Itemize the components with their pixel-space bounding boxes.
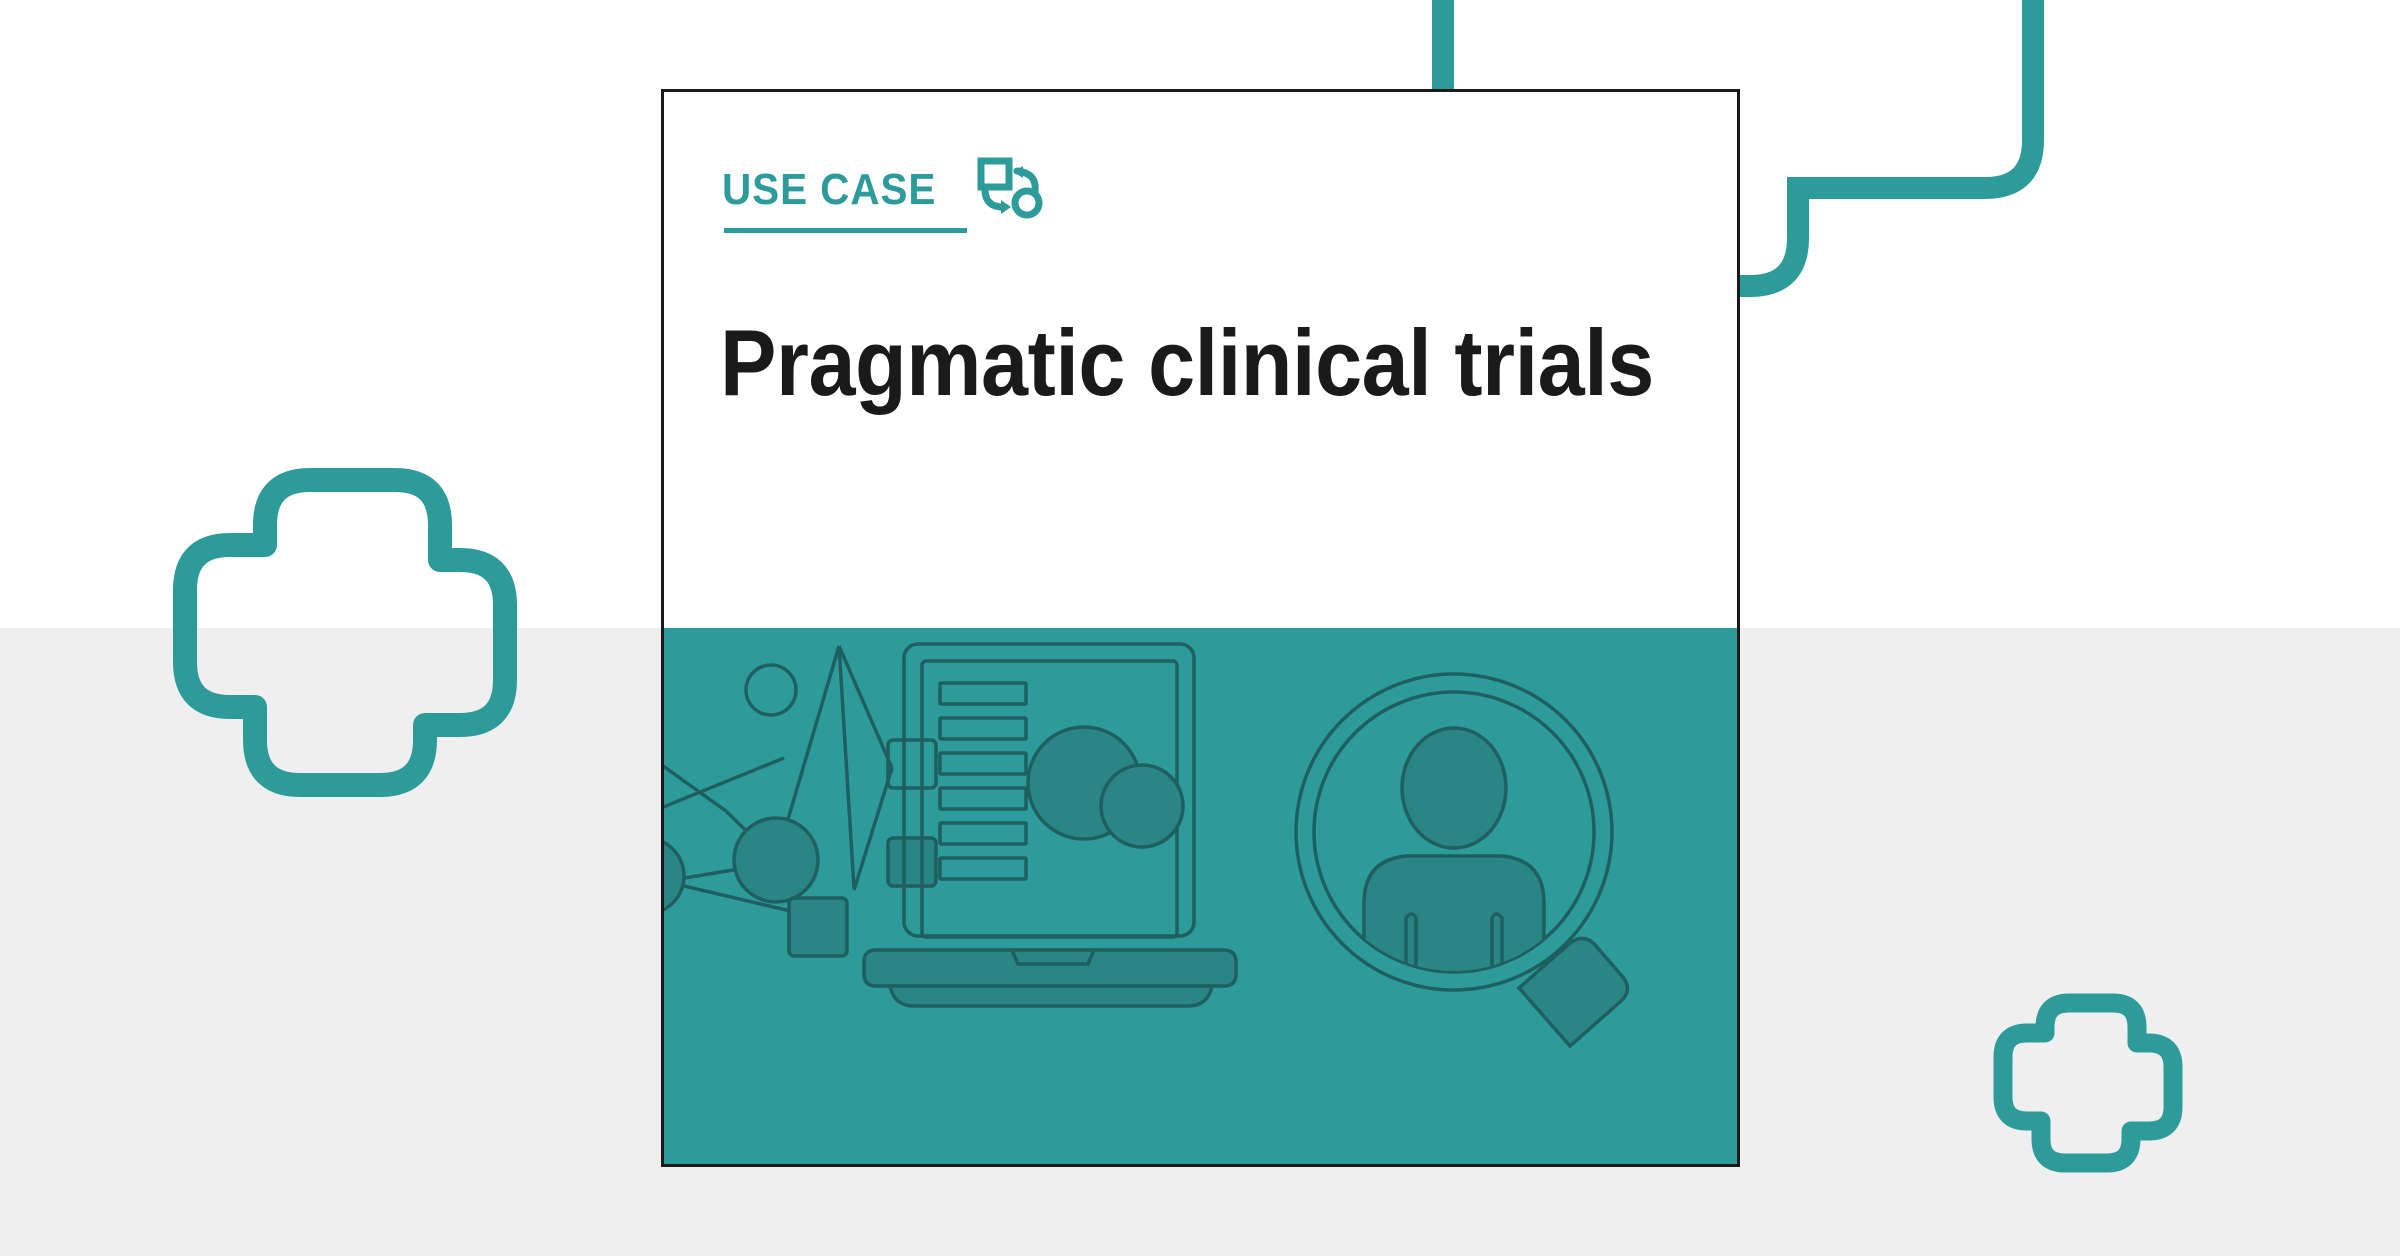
cycle-exchange-icon <box>977 157 1043 219</box>
eyebrow-underline <box>724 228 967 233</box>
laptop-screen-circles <box>1028 727 1183 847</box>
use-case-card: USE CASE Pragmatic clinical trials <box>661 89 1740 1167</box>
pragmatic-clinical-trials-illustration <box>664 628 1737 1167</box>
card-header: USE CASE Pragmatic clinical trials <box>664 92 1737 628</box>
eyebrow-row: USE CASE <box>722 161 1043 219</box>
teal-pipe-stub <box>1432 0 1454 89</box>
page-canvas: USE CASE Pragmatic clinical trials <box>0 0 2400 1256</box>
laptop-lip <box>890 986 1212 1006</box>
network-nodes <box>664 665 936 956</box>
card-illustration <box>664 628 1737 1167</box>
laptop-trackpad-notch <box>1012 950 1094 964</box>
rounded-cross-large <box>160 455 530 805</box>
eyebrow-label: USE CASE <box>722 168 936 212</box>
laptop-dashboard <box>864 644 1236 1006</box>
laptop-screen-rows <box>940 683 1026 879</box>
rounded-cross-small <box>1985 985 2185 1175</box>
page-title: Pragmatic clinical trials <box>720 312 1584 414</box>
magnifier-with-person <box>1296 674 1628 1046</box>
